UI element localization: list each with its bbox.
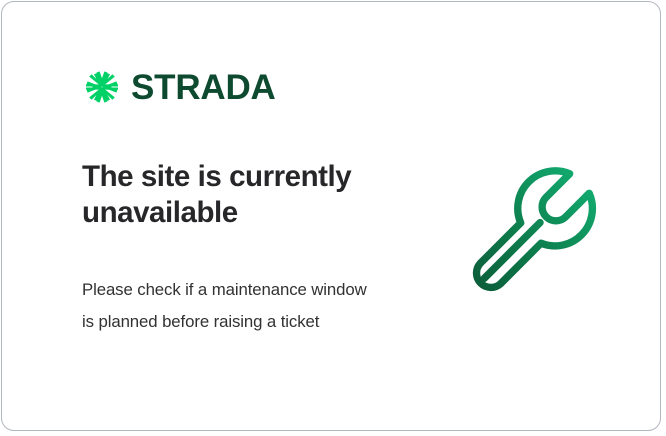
page-card: STRADA The site is currently unavailable… [1,1,661,431]
wrench-icon [454,156,614,316]
strada-logo: STRADA [82,64,422,110]
unavailable-page-screen: STRADA The site is currently unavailable… [0,0,666,436]
page-description: Please check if a maintenance window is … [82,274,382,339]
content-block: STRADA [82,64,422,110]
strada-wordmark: STRADA [131,70,276,105]
page-title: The site is currently unavailable [82,159,412,232]
strada-asterisk-icon [82,67,122,107]
